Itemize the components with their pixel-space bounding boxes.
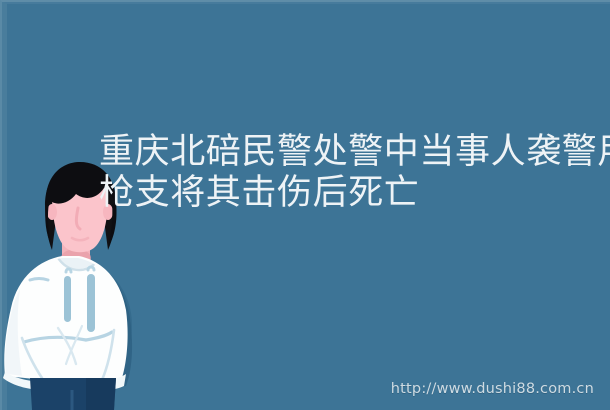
headline-line-1: 重庆北碚民警处警中当事人袭警用 [99,132,599,173]
drawstring-right [87,274,95,332]
shoulder-seam-left [30,279,48,281]
pants-shade [86,378,116,410]
watermark-url: http://www.dushi88.com.cn [391,381,594,397]
drawstring-left [64,276,71,322]
news-thumbnail-card: 重庆北碚民警处警中当事人袭警用 枪支将其击伤后死亡 http://www.dus… [0,0,610,410]
pants [30,378,116,410]
headline-line-2: 枪支将其击伤后死亡 [99,173,599,214]
headline: 重庆北碚民警处警中当事人袭警用 枪支将其击伤后死亡 [99,132,599,214]
